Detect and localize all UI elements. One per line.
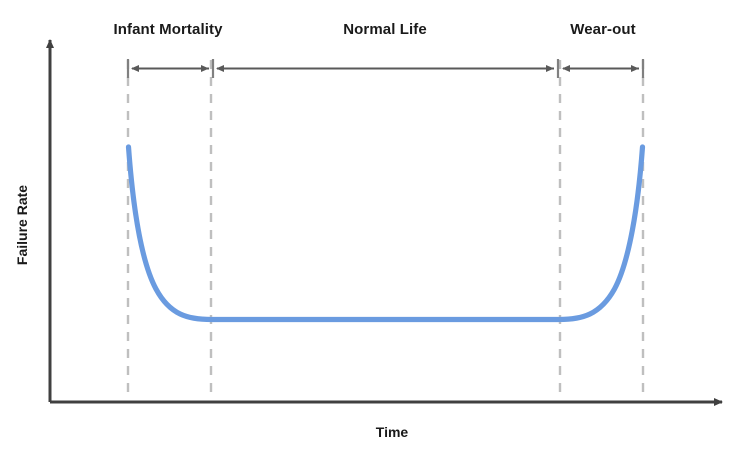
span-annotation-group (128, 59, 643, 78)
phase-label-wear-out: Wear-out (570, 22, 636, 37)
phase-label-normal-life: Normal Life (343, 22, 427, 37)
axes-group (50, 40, 722, 402)
phase-divider-group (128, 60, 643, 400)
y-axis-title: Failure Rate (15, 185, 29, 265)
bathtub-curve-path (129, 147, 643, 320)
phase-label-infant-mortality: Infant Mortality (113, 22, 222, 37)
bathtub-curve-series (129, 147, 643, 320)
x-axis-title: Time (376, 425, 408, 439)
bathtub-curve-figure: Infant Mortality Normal Life Wear-out Fa… (0, 0, 744, 455)
chart-canvas (0, 0, 744, 455)
